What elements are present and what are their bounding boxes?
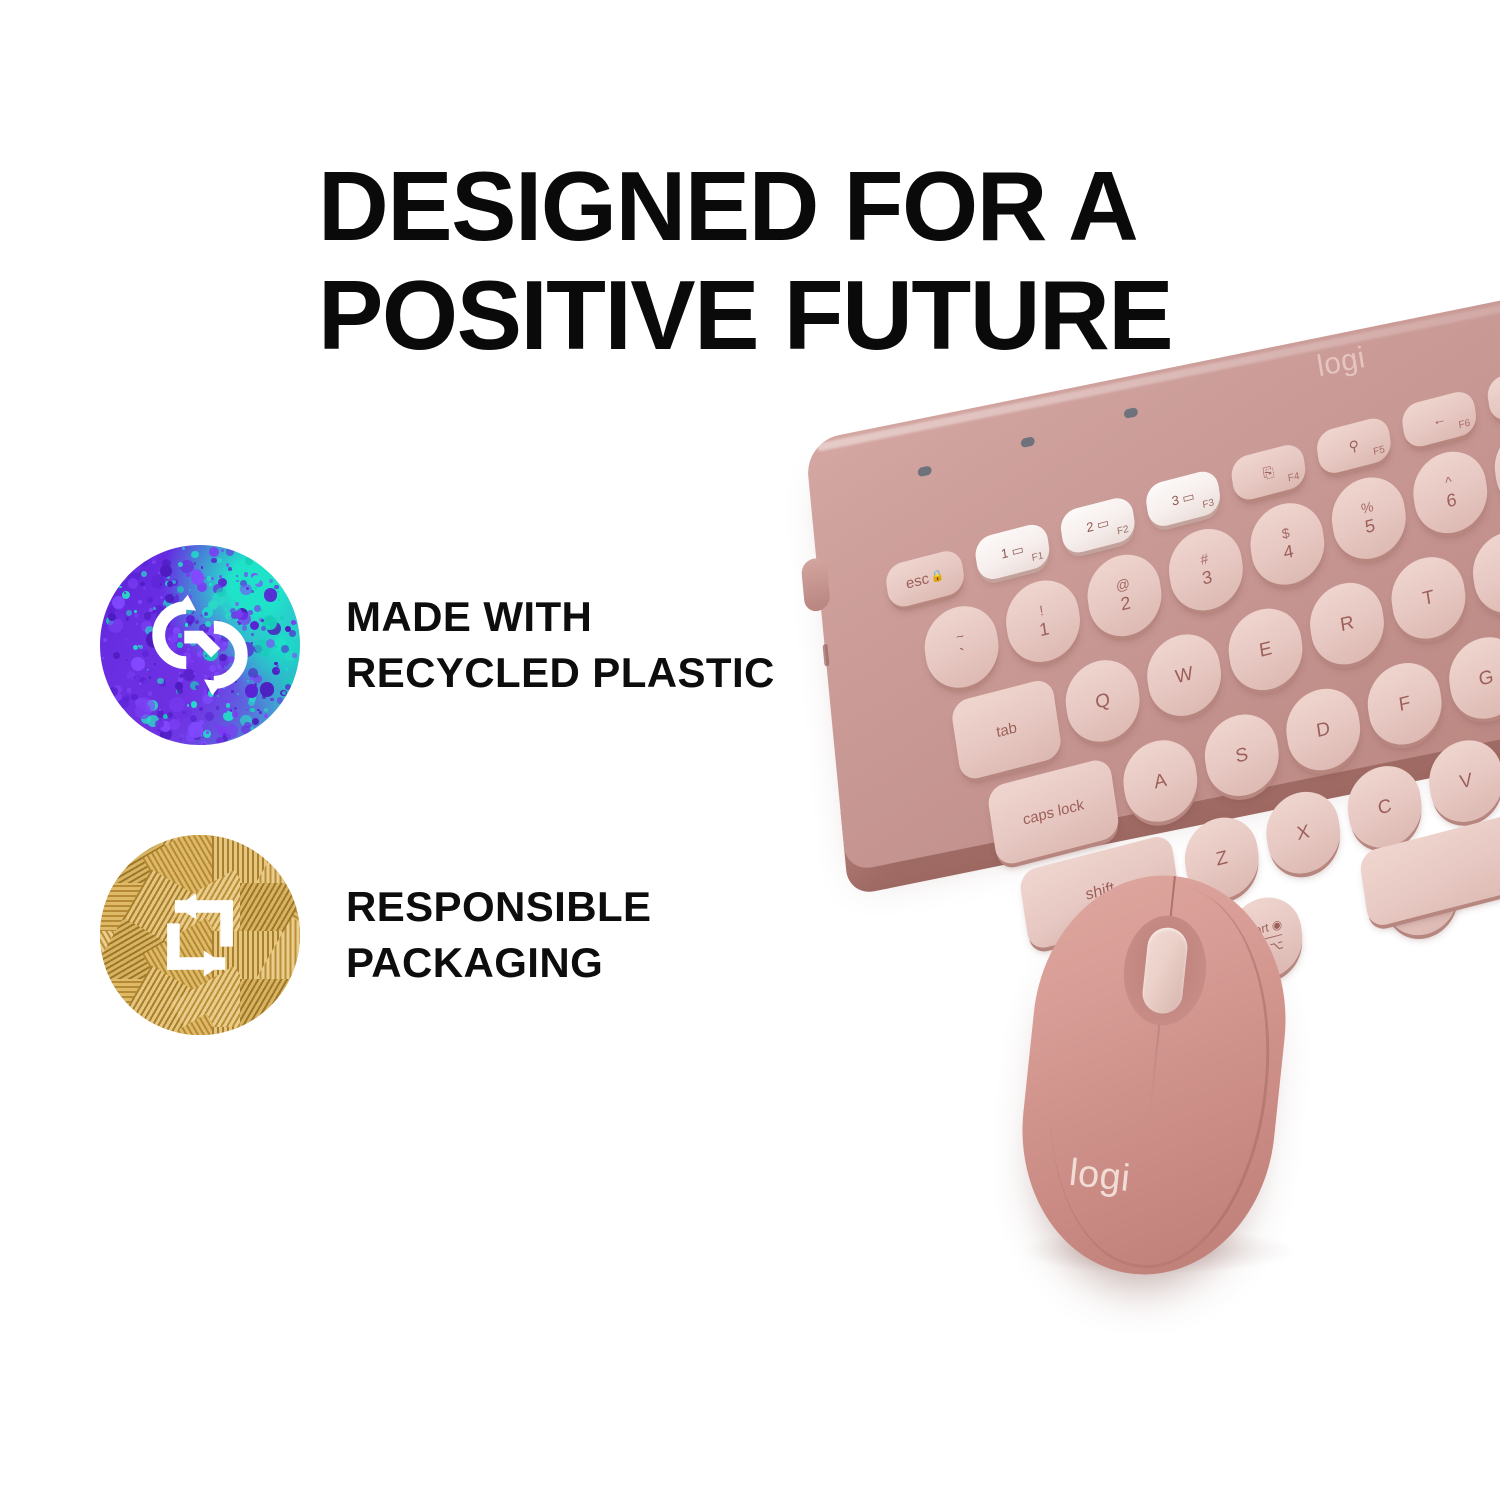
headline-line-1: DESIGNED FOR A [318, 151, 1137, 261]
power-button[interactable] [800, 556, 830, 613]
recycled-plastic-badge [100, 545, 300, 745]
product-marketing-canvas: DESIGNED FOR A POSITIVE FUTURE MADE WITH… [0, 0, 1500, 1500]
mouse-brand-logo: logi [1067, 1152, 1132, 1201]
feature-label: RESPONSIBLE PACKAGING [346, 879, 651, 992]
feature-label: MADE WITH RECYCLED PLASTIC [346, 589, 775, 702]
feature-responsible-packaging: RESPONSIBLE PACKAGING [100, 835, 651, 1035]
responsible-packaging-badge [100, 835, 300, 1035]
product-photo: logi esc 🔒1 ▭F12 ▭F23 ▭F3⎘F4⚲F5←F6Ἲ4F7☺F… [760, 390, 1500, 1350]
mouse-rim [1031, 875, 1287, 1279]
feature-made-with-recycled-plastic: MADE WITH RECYCLED PLASTIC [100, 545, 775, 745]
recycle-loop-icon [100, 545, 300, 745]
packaging-loop-icon [100, 835, 300, 1035]
